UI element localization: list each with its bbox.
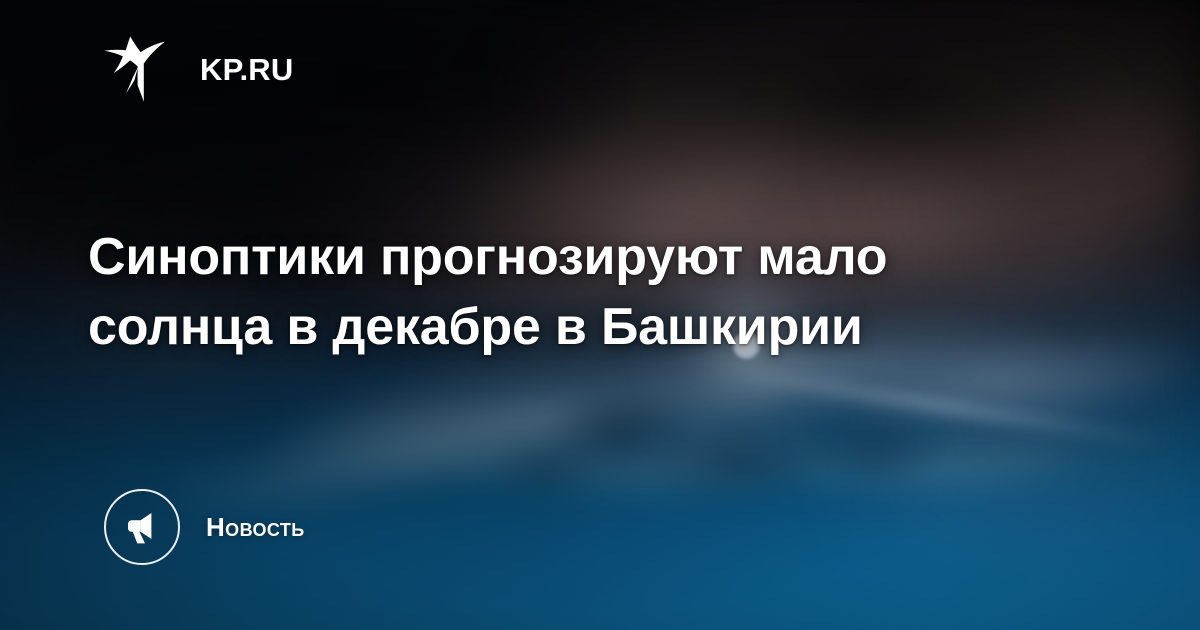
news-badge-label: Новость [206,512,305,543]
brand-lockup[interactable]: KP.RU [104,36,293,102]
card-content: KP.RU Синоптики прогнозируют мало солнца… [0,0,1200,630]
megaphone-icon [104,489,180,565]
swallow-bird-icon [104,36,178,102]
headline-title: Синоптики прогнозируют мало солнца в дек… [88,222,1028,362]
brand-wordmark: KP.RU [200,54,293,85]
share-card: KP.RU Синоптики прогнозируют мало солнца… [0,0,1200,630]
news-badge[interactable]: Новость [104,489,305,565]
